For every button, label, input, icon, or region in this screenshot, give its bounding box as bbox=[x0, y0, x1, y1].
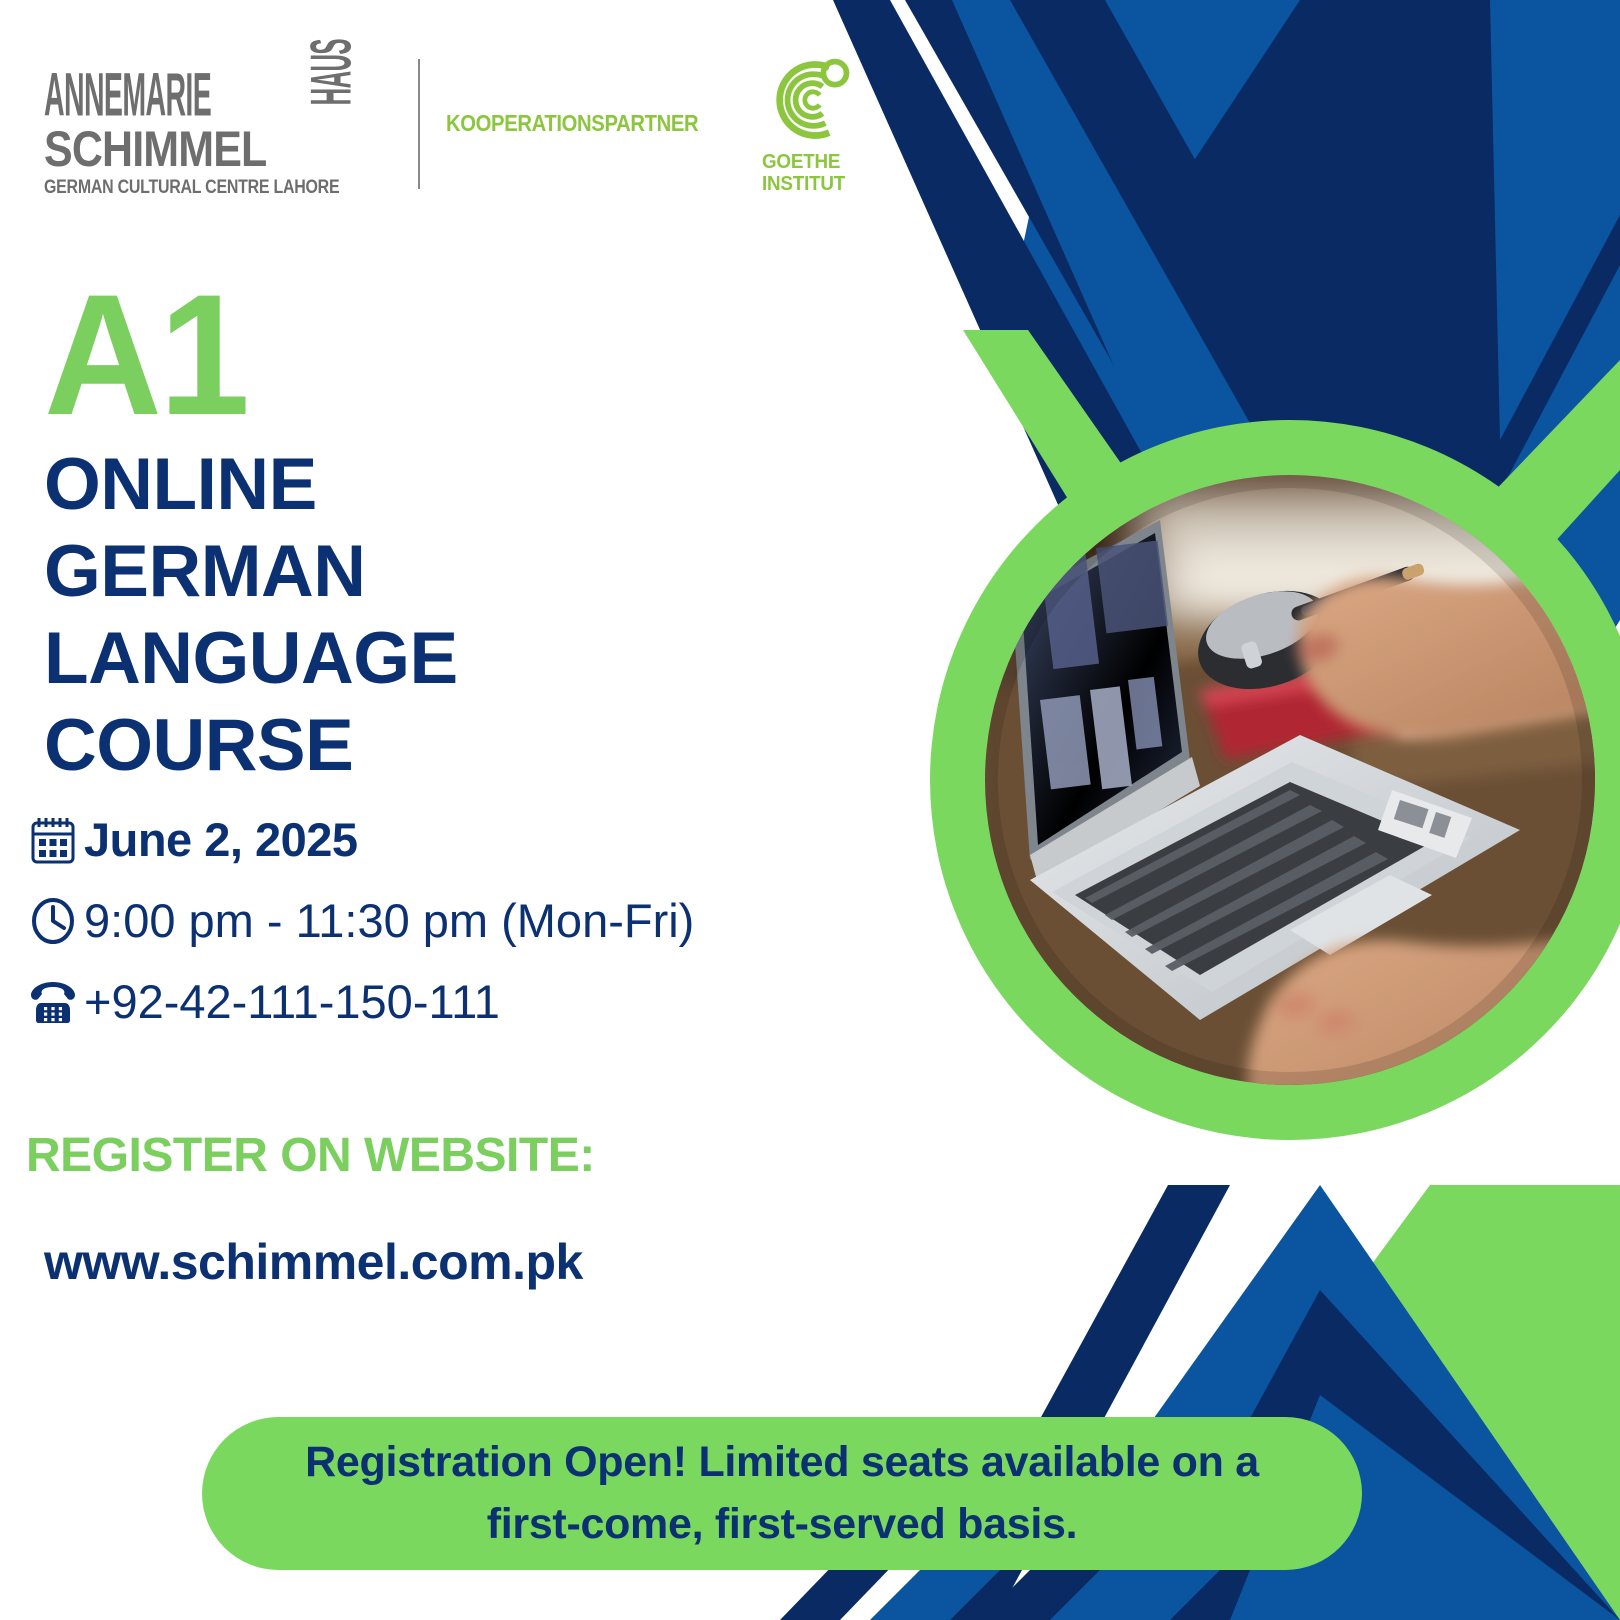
goethe-institut-logo: GOETHE INSTITUT bbox=[762, 52, 858, 194]
kooperationspartner-label: KOOPERATIONSPARTNER bbox=[446, 110, 698, 137]
goethe-arcs-icon bbox=[762, 52, 858, 148]
detail-date-text: June 2, 2025 bbox=[84, 812, 358, 867]
course-title-line-3: LANGUAGE bbox=[44, 616, 458, 703]
detail-time-text: 9:00 pm - 11:30 pm (Mon-Fri) bbox=[84, 893, 694, 948]
goethe-line1: GOETHE bbox=[762, 152, 845, 173]
schimmel-subtitle-text: GERMAN CULTURAL CENTRE LAHORE bbox=[44, 177, 339, 199]
banner-line-1: Registration Open! Limited seats availab… bbox=[305, 1432, 1259, 1493]
course-title: ONLINE GERMAN LANGUAGE COURSE bbox=[44, 442, 458, 789]
detail-row-date: June 2, 2025 bbox=[22, 812, 694, 867]
course-title-line-2: GERMAN bbox=[44, 529, 458, 616]
schimmel-haus-text: HAUS bbox=[306, 65, 357, 106]
schimmel-name-text: SCHIMMEL bbox=[44, 124, 266, 174]
schimmel-annemarie-text: ANNEMARIE bbox=[44, 69, 211, 122]
clock-icon bbox=[22, 895, 84, 947]
detail-row-phone: +92-42-111-150-111 bbox=[22, 974, 694, 1029]
register-website-url[interactable]: www.schimmel.com.pk bbox=[44, 1233, 595, 1291]
telephone-icon bbox=[22, 976, 84, 1028]
registration-banner: Registration Open! Limited seats availab… bbox=[202, 1417, 1362, 1570]
detail-phone-text: +92-42-111-150-111 bbox=[84, 974, 500, 1029]
background-artwork bbox=[0, 0, 1620, 1620]
schimmel-logo: ANNEMARIE HAUS SCHIMMEL GERMAN CULTURAL … bbox=[44, 48, 396, 199]
detail-row-time: 9:00 pm - 11:30 pm (Mon-Fri) bbox=[22, 893, 694, 948]
course-title-line-1: ONLINE bbox=[44, 442, 458, 529]
poster-canvas: ANNEMARIE HAUS SCHIMMEL GERMAN CULTURAL … bbox=[0, 0, 1620, 1620]
logo-bar: ANNEMARIE HAUS SCHIMMEL GERMAN CULTURAL … bbox=[44, 48, 858, 199]
register-block: REGISTER ON WEBSITE: www.schimmel.com.pk bbox=[26, 1128, 595, 1291]
course-details-list: June 2, 2025 9:00 pm - 11:30 pm (Mon-Fri… bbox=[22, 812, 694, 1055]
logo-divider bbox=[418, 59, 420, 189]
banner-line-2: first-come, first-served basis. bbox=[305, 1494, 1259, 1555]
course-title-line-4: COURSE bbox=[44, 703, 458, 790]
headline-block: A1 ONLINE GERMAN LANGUAGE COURSE bbox=[44, 276, 458, 789]
register-label: REGISTER ON WEBSITE: bbox=[26, 1128, 595, 1183]
goethe-wordmark: GOETHE INSTITUT bbox=[762, 152, 845, 194]
goethe-line2: INSTITUT bbox=[762, 174, 845, 195]
course-level-a1: A1 bbox=[44, 276, 437, 436]
registration-banner-text: Registration Open! Limited seats availab… bbox=[305, 1432, 1259, 1554]
calendar-icon bbox=[22, 814, 84, 866]
